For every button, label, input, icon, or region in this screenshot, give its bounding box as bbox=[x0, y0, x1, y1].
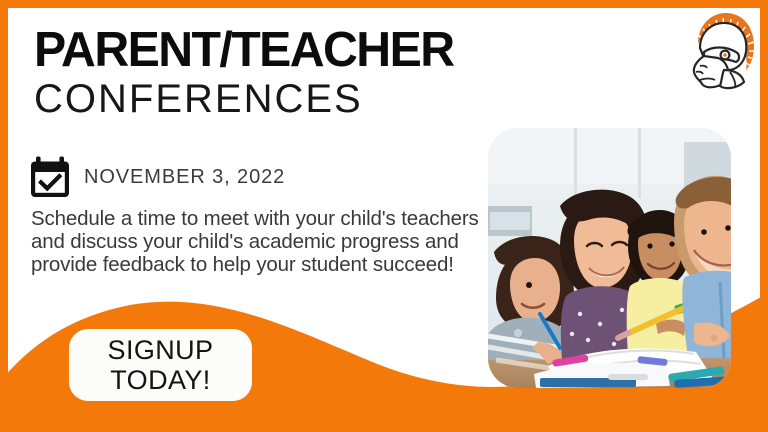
family-homework-photo bbox=[488, 128, 731, 388]
signup-button-line-2: TODAY! bbox=[110, 365, 210, 395]
page-subtitle: CONFERENCES bbox=[34, 78, 504, 120]
signup-button-line-1: SIGNUP bbox=[108, 335, 214, 365]
event-date-text: NOVEMBER 3, 2022 bbox=[84, 166, 285, 189]
frame-border-top bbox=[0, 0, 768, 8]
headline-block: PARENT/TEACHER CONFERENCES bbox=[34, 26, 504, 120]
frame-border-bottom bbox=[0, 424, 768, 432]
description-text: Schedule a time to meet with your child'… bbox=[31, 207, 479, 276]
event-date-row: NOVEMBER 3, 2022 bbox=[30, 156, 285, 198]
spartan-head-logo bbox=[678, 8, 762, 92]
page-title: PARENT/TEACHER bbox=[34, 26, 497, 74]
calendar-check-icon bbox=[30, 156, 70, 198]
frame-border-left bbox=[0, 0, 8, 432]
flyer-canvas: PARENT/TEACHER CONFERENCES NOVEMBER 3, 2… bbox=[0, 0, 768, 432]
signup-today-button[interactable]: SIGNUP TODAY! bbox=[69, 329, 252, 401]
